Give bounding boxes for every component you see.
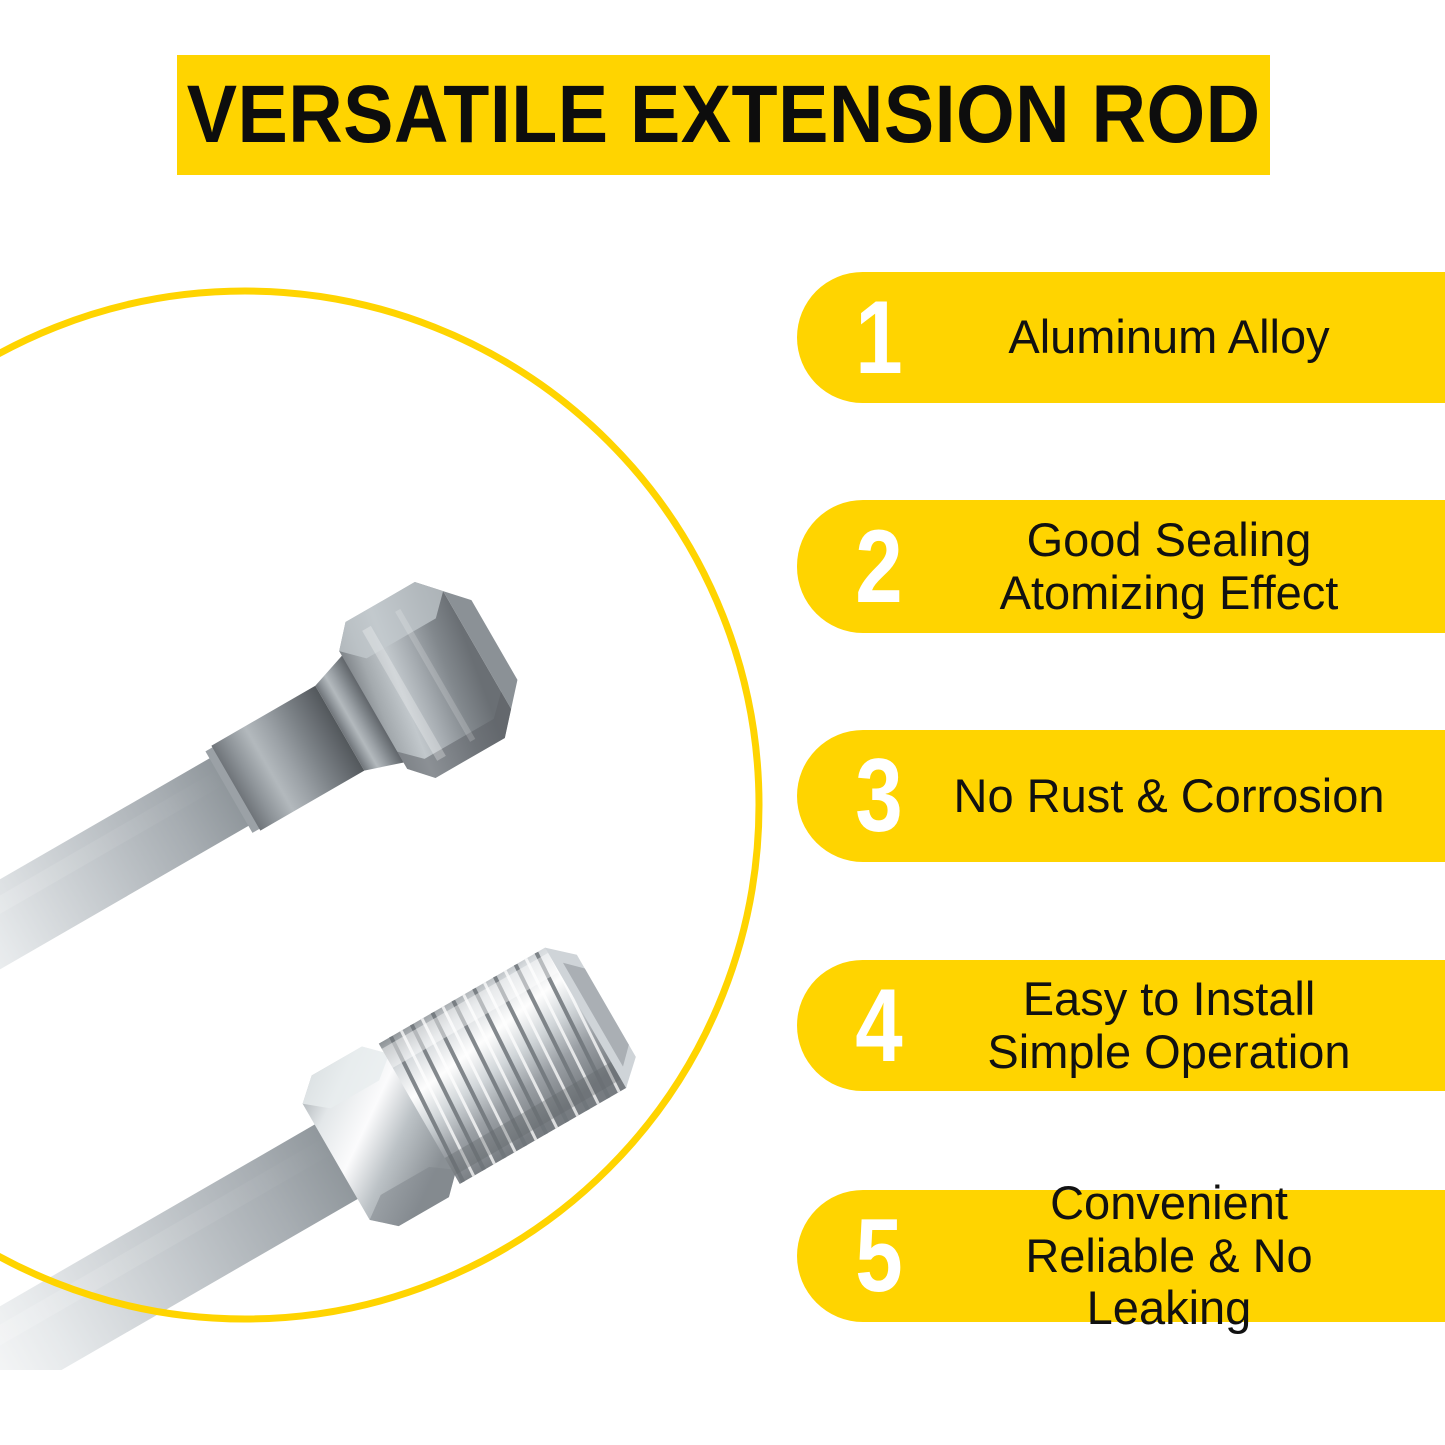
feature-label-2: Good Sealing Atomizing Effect [939,514,1445,619]
feature-label-5: Convenient Reliable & No Leaking [939,1177,1445,1335]
feature-badge-3[interactable]: 3 No Rust & Corrosion [797,730,1445,862]
product-infographic: VERSATILE EXTENSION ROD [0,0,1445,1445]
feature-badge-4[interactable]: 4 Easy to Install Simple Operation [797,960,1445,1091]
feature-number-3: 3 [830,744,928,848]
lower-extension-rod [0,930,650,1370]
feature-badge-5[interactable]: 5 Convenient Reliable & No Leaking [797,1190,1445,1322]
feature-badge-1[interactable]: 1 Aluminum Alloy [797,272,1445,403]
feature-number-1: 1 [830,286,928,390]
feature-badge-2[interactable]: 2 Good Sealing Atomizing Effect [797,500,1445,633]
page-title: VERSATILE EXTENSION ROD [187,74,1261,156]
feature-label-4: Easy to Install Simple Operation [939,973,1445,1078]
feature-label-3: No Rust & Corrosion [939,770,1445,823]
feature-label-1: Aluminum Alloy [939,311,1445,364]
feature-number-4: 4 [830,974,928,1078]
title-banner: VERSATILE EXTENSION ROD [177,55,1270,175]
product-image-area: S [0,250,790,1370]
feature-number-5: 5 [830,1204,928,1308]
feature-number-2: 2 [830,515,928,619]
product-photo: S [0,250,790,1370]
